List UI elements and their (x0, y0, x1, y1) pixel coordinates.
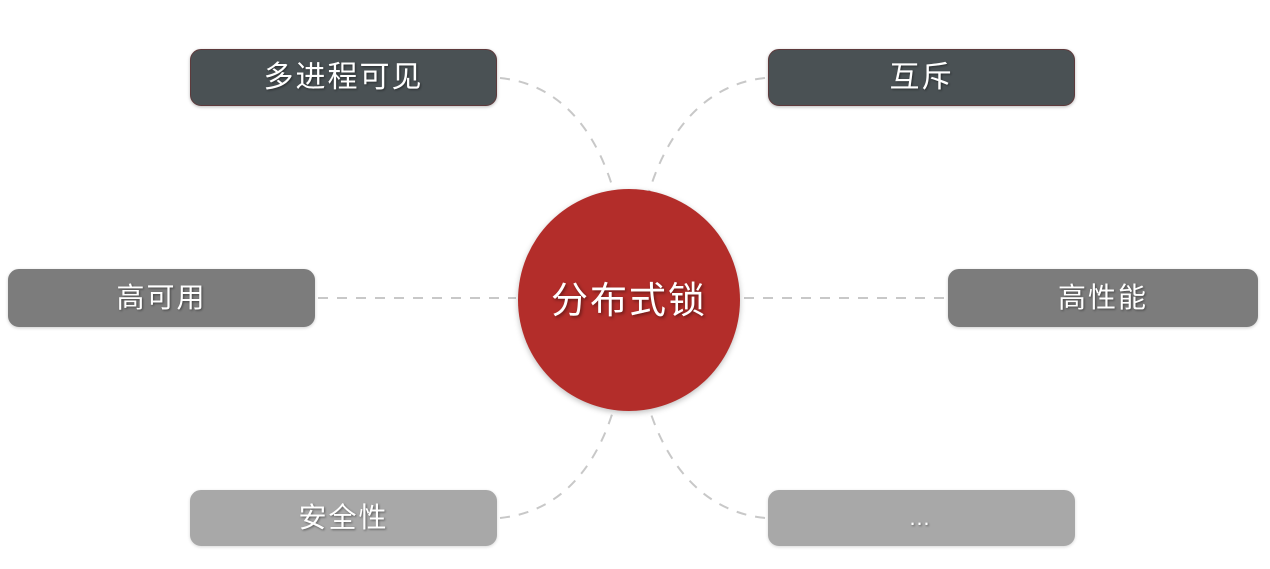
node-label: 高可用 (116, 284, 206, 312)
node-label: 互斥 (890, 63, 954, 93)
connector-mutual-exclusion (649, 78, 765, 192)
node-multi-process-visible[interactable]: 多进程可见 (190, 49, 497, 106)
node-mutual-exclusion[interactable]: 互斥 (768, 49, 1075, 106)
node-label: … (909, 507, 935, 529)
node-label: 安全性 (298, 504, 388, 532)
node-label: 高性能 (1058, 284, 1148, 312)
node-more[interactable]: … (768, 490, 1075, 546)
connector-multi-process-visible (500, 78, 614, 192)
hub-node-label: 分布式锁 (551, 282, 707, 319)
connector-safety (500, 408, 614, 518)
node-high-performance[interactable]: 高性能 (948, 269, 1258, 327)
diagram-canvas: 分布式锁 多进程可见 互斥 高可用 高性能 安全性 … (0, 0, 1270, 569)
node-high-availability[interactable]: 高可用 (8, 269, 315, 327)
node-label: 多进程可见 (264, 63, 424, 93)
node-safety[interactable]: 安全性 (190, 490, 497, 546)
connector-more (649, 408, 765, 518)
hub-node-distributed-lock[interactable]: 分布式锁 (518, 189, 740, 411)
